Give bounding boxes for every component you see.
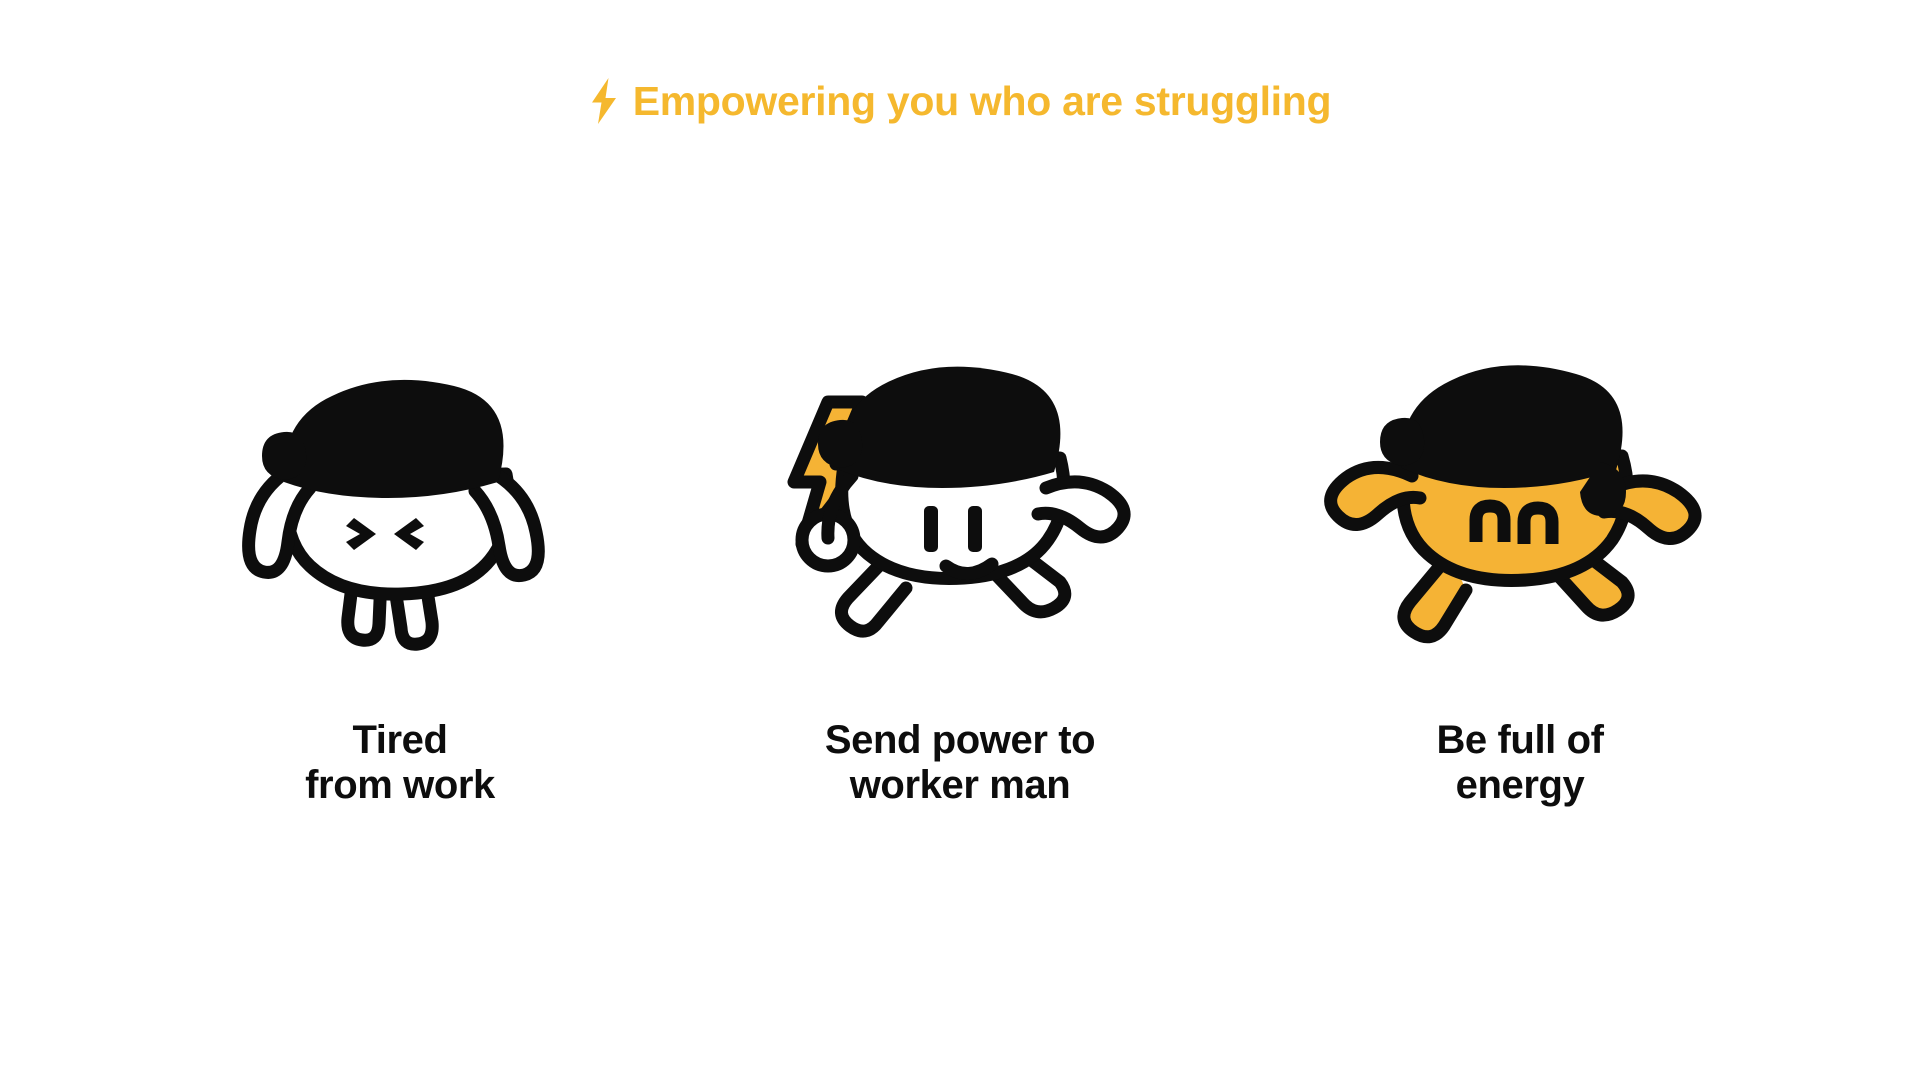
card-full-of-energy: Be full of energy bbox=[1240, 330, 1800, 808]
tired-worker-character bbox=[180, 330, 620, 670]
character-row: Tired from work bbox=[0, 330, 1920, 808]
energized-worker-character bbox=[740, 330, 1180, 670]
headline-text: Empowering you who are struggling bbox=[633, 81, 1332, 122]
caption-line-1: Send power to bbox=[825, 718, 1095, 763]
caption-send-power: Send power to worker man bbox=[825, 718, 1095, 808]
lightning-bolt-icon bbox=[589, 78, 619, 124]
energized-worker-illustration bbox=[740, 330, 1180, 670]
card-tired: Tired from work bbox=[120, 330, 680, 808]
caption-line-2: energy bbox=[1436, 763, 1603, 808]
card-send-power: Send power to worker man bbox=[680, 330, 1240, 808]
caption-tired: Tired from work bbox=[305, 718, 495, 808]
poster-canvas: Empowering you who are struggling bbox=[0, 0, 1920, 1080]
caption-line-1: Be full of bbox=[1436, 718, 1603, 763]
powered-worker-illustration bbox=[1300, 330, 1740, 670]
tired-worker-illustration bbox=[180, 330, 620, 670]
caption-line-2: worker man bbox=[825, 763, 1095, 808]
headline: Empowering you who are struggling bbox=[0, 78, 1920, 124]
powered-worker-character bbox=[1300, 330, 1740, 670]
caption-line-2: from work bbox=[305, 763, 495, 808]
caption-full-of-energy: Be full of energy bbox=[1436, 718, 1603, 808]
caption-line-1: Tired bbox=[305, 718, 495, 763]
